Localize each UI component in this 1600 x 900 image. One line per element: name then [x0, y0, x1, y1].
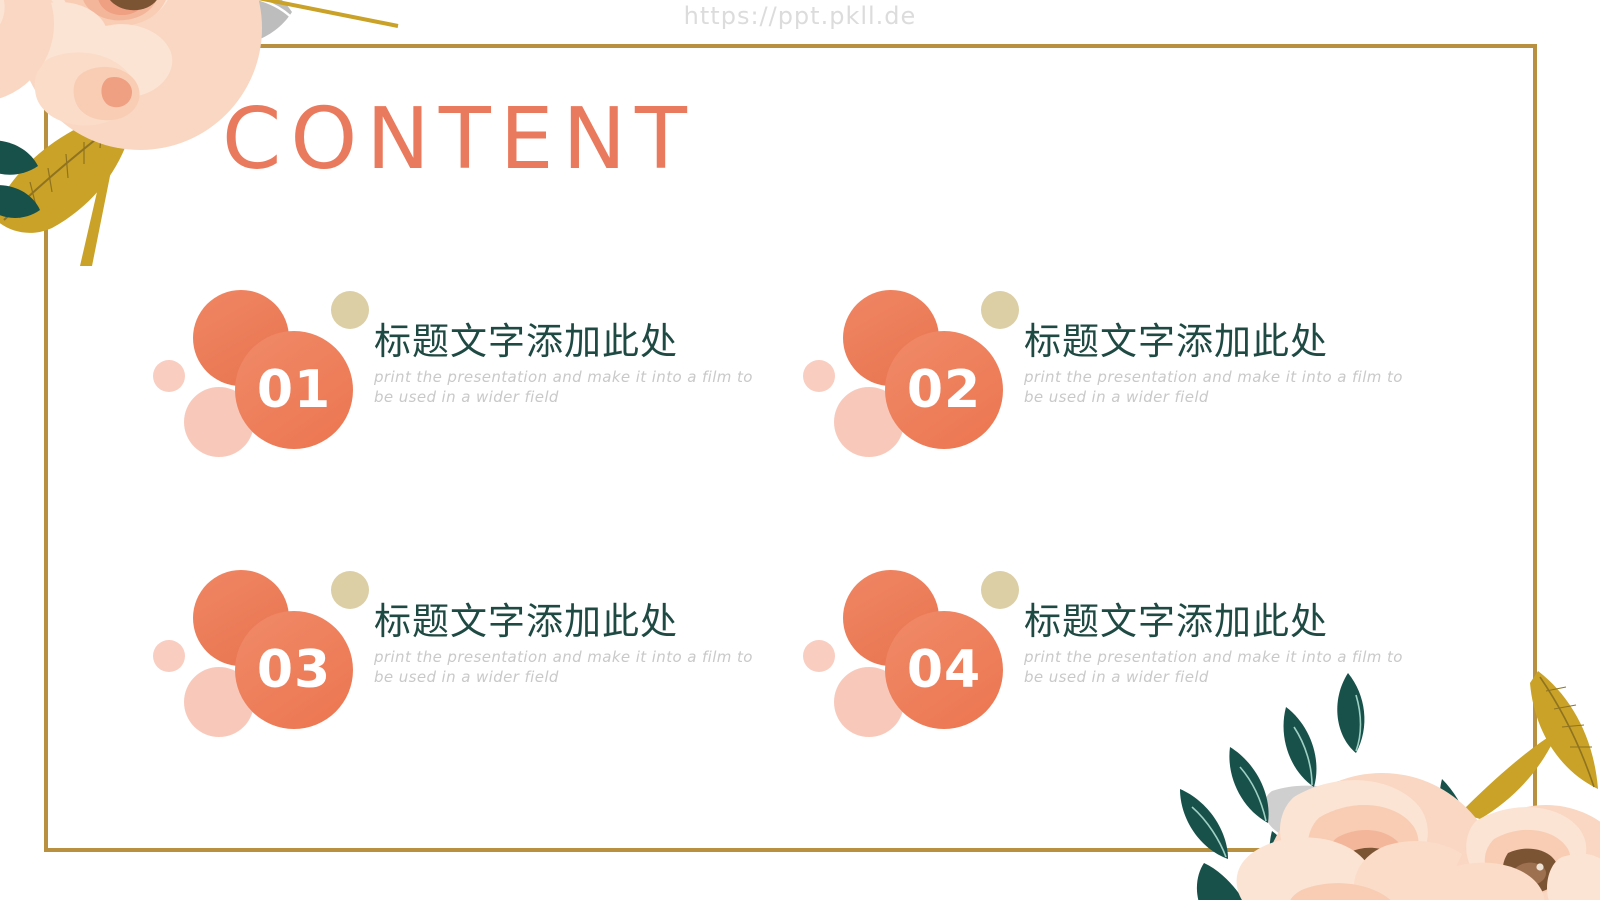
item-text-block: 标题文字添加此处 print the presentation and make… [1024, 323, 1414, 407]
item-number: 02 [907, 364, 981, 416]
number-badge[interactable]: 04 [885, 611, 1003, 729]
content-item-01[interactable]: 01 标题文字添加此处 print the presentation and m… [146, 275, 786, 455]
item-number: 04 [907, 644, 981, 696]
number-badge[interactable]: 02 [885, 331, 1003, 449]
item-heading: 标题文字添加此处 [374, 323, 764, 362]
small-pink-dot-icon [803, 360, 835, 392]
item-subtitle: print the presentation and make it into … [1024, 648, 1414, 688]
circle-cluster: 04 [796, 555, 1016, 735]
item-heading: 标题文字添加此处 [374, 603, 764, 642]
item-text-block: 标题文字添加此处 print the presentation and make… [1024, 603, 1414, 687]
item-heading: 标题文字添加此处 [1024, 603, 1414, 642]
small-pink-dot-icon [153, 640, 185, 672]
item-text-block: 标题文字添加此处 print the presentation and make… [374, 603, 764, 687]
tan-dot-icon [331, 291, 369, 329]
content-item-04[interactable]: 04 标题文字添加此处 print the presentation and m… [796, 555, 1436, 735]
item-number: 01 [257, 364, 331, 416]
content-item-02[interactable]: 02 标题文字添加此处 print the presentation and m… [796, 275, 1436, 455]
number-badge[interactable]: 03 [235, 611, 353, 729]
number-badge[interactable]: 01 [235, 331, 353, 449]
small-pink-dot-icon [803, 640, 835, 672]
tan-dot-icon [331, 571, 369, 609]
teal-leaf-icon [0, 140, 40, 218]
slide-canvas: https://ppt.pkll.de [0, 0, 1600, 900]
item-subtitle: print the presentation and make it into … [374, 648, 764, 688]
watermark-url: https://ppt.pkll.de [0, 2, 1600, 30]
circle-cluster: 03 [146, 555, 366, 735]
item-subtitle: print the presentation and make it into … [1024, 368, 1414, 408]
item-heading: 标题文字添加此处 [1024, 323, 1414, 362]
item-text-block: 标题文字添加此处 print the presentation and make… [374, 323, 764, 407]
content-item-03[interactable]: 03 标题文字添加此处 print the presentation and m… [146, 555, 786, 735]
tan-dot-icon [981, 291, 1019, 329]
item-subtitle: print the presentation and make it into … [374, 368, 764, 408]
small-pink-dot-icon [153, 360, 185, 392]
page-title: CONTENT [222, 97, 696, 182]
circle-cluster: 02 [796, 275, 1016, 455]
circle-cluster: 01 [146, 275, 366, 455]
tan-dot-icon [981, 571, 1019, 609]
item-number: 03 [257, 644, 331, 696]
